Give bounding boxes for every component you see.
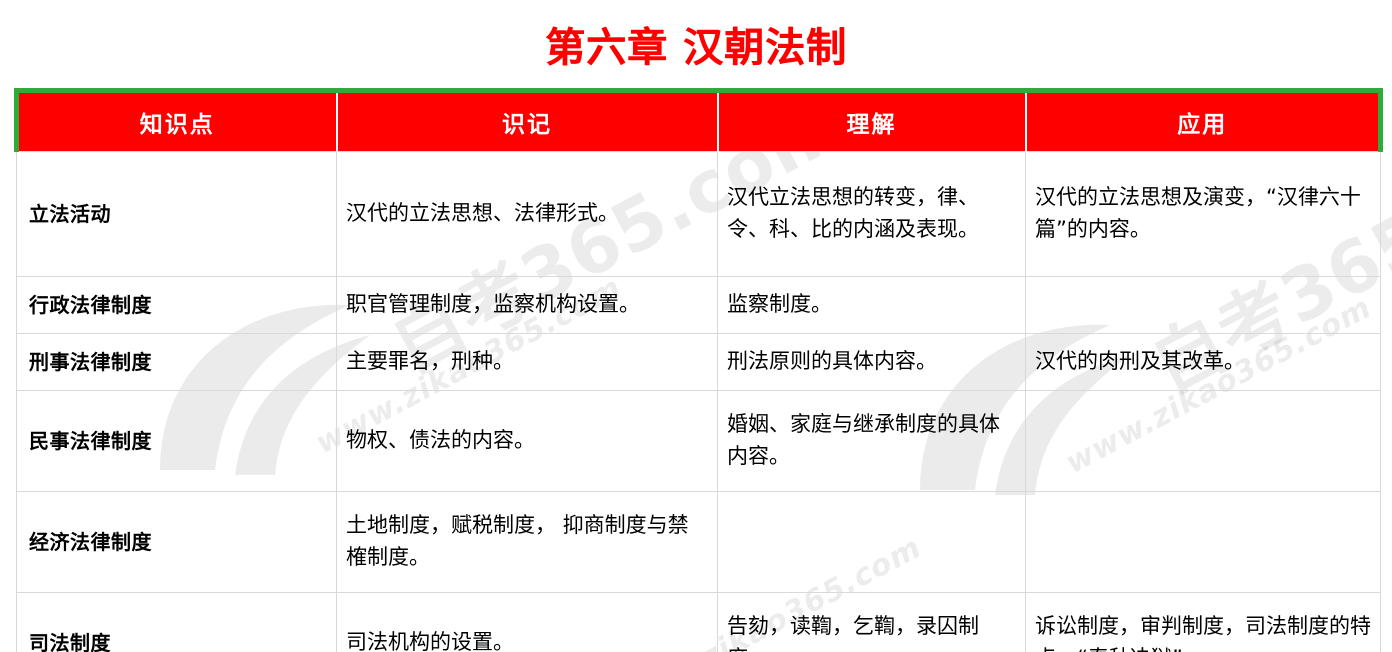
table-header-row: 知识点 识记 理解 应用	[17, 91, 1381, 152]
cell-understand	[718, 492, 1026, 593]
cell-topic: 行政法律制度	[17, 277, 337, 334]
cell-apply	[1026, 492, 1381, 593]
page-title: 第六章 汉朝法制	[545, 28, 847, 68]
table-row: 司法制度 司法机构的设置。 告劾，读鞫，乞鞫，录囚制度。 诉讼制度，审判制度，司…	[17, 593, 1381, 652]
column-header-understand: 理解	[718, 91, 1026, 152]
knowledge-point-table: 知识点 识记 理解 应用 立法活动 汉代的立法思想、法律形式。 汉代立法思想的转…	[14, 88, 1383, 652]
cell-apply: 汉代的肉刑及其改革。	[1026, 334, 1381, 391]
cell-topic: 经济法律制度	[17, 492, 337, 593]
cell-apply	[1026, 277, 1381, 334]
column-header-recall: 识记	[337, 91, 718, 152]
cell-apply	[1026, 391, 1381, 492]
document-title-bar: 第六章 汉朝法制	[14, 8, 1378, 88]
table-row: 刑事法律制度 主要罪名，刑种。 刑法原则的具体内容。 汉代的肉刑及其改革。	[17, 334, 1381, 391]
cell-recall: 汉代的立法思想、法律形式。	[337, 152, 718, 277]
cell-recall: 司法机构的设置。	[337, 593, 718, 652]
page-root: 自考365.com 自考365.com www.zikao365.com www…	[0, 0, 1392, 652]
cell-topic: 司法制度	[17, 593, 337, 652]
cell-topic: 刑事法律制度	[17, 334, 337, 391]
cell-understand: 刑法原则的具体内容。	[718, 334, 1026, 391]
cell-recall: 物权、债法的内容。	[337, 391, 718, 492]
table-row: 经济法律制度 土地制度，赋税制度， 抑商制度与禁榷制度。	[17, 492, 1381, 593]
table-row: 民事法律制度 物权、债法的内容。 婚姻、家庭与继承制度的具体内容。	[17, 391, 1381, 492]
cell-apply: 汉代的立法思想及演变，“汉律六十篇”的内容。	[1026, 152, 1381, 277]
cell-apply: 诉讼制度，审判制度，司法制度的特点，“春秋决狱”。	[1026, 593, 1381, 652]
table-body: 立法活动 汉代的立法思想、法律形式。 汉代立法思想的转变，律、令、科、比的内涵及…	[17, 152, 1381, 652]
cell-recall: 职官管理制度，监察机构设置。	[337, 277, 718, 334]
cell-understand: 汉代立法思想的转变，律、令、科、比的内涵及表现。	[718, 152, 1026, 277]
column-header-topic: 知识点	[17, 91, 337, 152]
table-row: 立法活动 汉代的立法思想、法律形式。 汉代立法思想的转变，律、令、科、比的内涵及…	[17, 152, 1381, 277]
table-row: 行政法律制度 职官管理制度，监察机构设置。 监察制度。	[17, 277, 1381, 334]
table-header: 知识点 识记 理解 应用	[17, 91, 1381, 152]
cell-understand: 监察制度。	[718, 277, 1026, 334]
cell-understand: 告劾，读鞫，乞鞫，录囚制度。	[718, 593, 1026, 652]
column-header-apply: 应用	[1026, 91, 1381, 152]
cell-recall: 主要罪名，刑种。	[337, 334, 718, 391]
cell-topic: 立法活动	[17, 152, 337, 277]
cell-topic: 民事法律制度	[17, 391, 337, 492]
cell-recall: 土地制度，赋税制度， 抑商制度与禁榷制度。	[337, 492, 718, 593]
cell-understand: 婚姻、家庭与继承制度的具体内容。	[718, 391, 1026, 492]
